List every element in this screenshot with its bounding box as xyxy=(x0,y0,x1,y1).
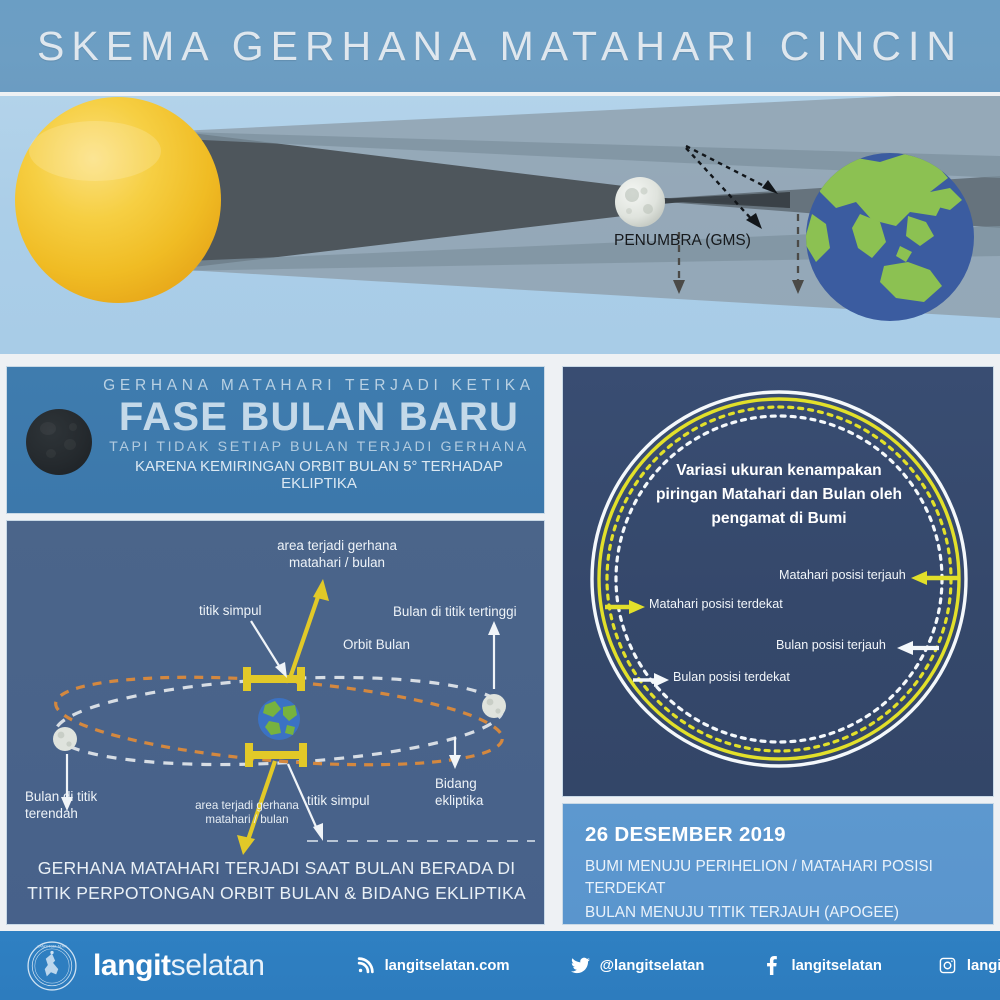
footer-link-twitter[interactable]: @langitselatan xyxy=(570,956,705,976)
arrow-sun-nearest xyxy=(605,600,645,614)
footer-bar: LANGITSELATAN langitselatan langitselata… xyxy=(0,931,1000,1000)
label-moon-highest: Bulan di titik tertinggi xyxy=(393,604,517,621)
footer-link-website[interactable]: langitselatan.com xyxy=(355,956,510,976)
circles-panel-title: Variasi ukuran kenampakan piringan Matah… xyxy=(618,459,940,531)
label-ecliptic-plane-line2: ekliptika xyxy=(435,793,521,810)
circles-title-line3: pengamat di Bumi xyxy=(618,507,940,531)
brand-word-bold: langit xyxy=(93,949,171,982)
infographic-page: SKEMA GERHANA MATAHARI CINCIN xyxy=(0,0,1000,1000)
label-eclipse-area-bottom-line2: matahari / bulan xyxy=(183,813,311,827)
label-sun-nearest: Matahari posisi terdekat xyxy=(649,597,783,611)
phase-line-4: KARENA KEMIRINGAN ORBIT BULAN 5° TERHADA… xyxy=(99,458,539,492)
earth-small-globe xyxy=(258,698,300,740)
facebook-icon xyxy=(761,956,783,976)
event-date-panel: 26 DESEMBER 2019 BUMI MENUJU PERIHELION … xyxy=(562,803,994,925)
new-moon-icon xyxy=(26,409,92,475)
label-moon-farthest: Bulan posisi terjauh xyxy=(776,638,886,652)
rss-icon xyxy=(355,956,377,976)
label-penumbra: PENUMBRA (GMS) xyxy=(614,232,751,250)
svg-text:LANGITSELATAN: LANGITSELATAN xyxy=(37,944,66,948)
moon-lowest-marker xyxy=(53,727,77,751)
moon-highest-arrow xyxy=(488,621,500,689)
label-sun-farthest: Matahari posisi terjauh xyxy=(779,568,906,582)
label-eclipse-area-top-line2: matahari / bulan xyxy=(262,555,412,572)
orbit-panel-caption: GERHANA MATAHARI TERJADI SAAT BULAN BERA… xyxy=(7,856,545,906)
eclipse-area-arrow-top xyxy=(289,579,329,681)
footer-link-facebook[interactable]: langitselatan xyxy=(761,956,881,976)
ecliptic-plane-arrow xyxy=(449,737,461,769)
brand-wordmark: langitselatan xyxy=(93,949,265,983)
event-detail-line1: BUMI MENUJU PERIHELION / MATAHARI POSISI… xyxy=(585,856,993,900)
phase-text-block: GERHANA MATAHARI TERJADI KETIKA FASE BUL… xyxy=(99,377,539,492)
label-moon-lowest-line2: terendah xyxy=(25,806,135,823)
circles-title-line2: piringan Matahari dan Bulan oleh xyxy=(618,483,940,507)
page-title: SKEMA GERHANA MATAHARI CINCIN xyxy=(37,23,963,70)
orbit-caption-line2: TITIK PERPOTONGAN ORBIT BULAN & BIDANG E… xyxy=(7,881,545,906)
label-ecliptic-plane-line1: Bidang xyxy=(435,776,521,793)
moon-highest-marker xyxy=(482,694,506,718)
phase-line-2: FASE BULAN BARU xyxy=(99,397,539,438)
instagram-icon xyxy=(937,956,959,976)
label-eclipse-area-top: area terjadi gerhana matahari / bulan xyxy=(262,538,412,572)
label-eclipse-area-bottom: area terjadi gerhana matahari / bulan xyxy=(183,799,311,828)
label-moon-nearest: Bulan posisi terdekat xyxy=(673,670,790,684)
twitter-icon xyxy=(570,956,592,976)
label-node-top: titik simpul xyxy=(199,603,262,620)
footer-facebook-text: langitselatan xyxy=(791,958,881,974)
footer-link-instagram[interactable]: langitselatanmedia xyxy=(937,956,1000,976)
new-moon-phase-panel: GERHANA MATAHARI TERJADI KETIKA FASE BUL… xyxy=(6,366,545,514)
circles-title-line1: Variasi ukuran kenampakan xyxy=(618,459,940,483)
langitselatan-seal-logo: LANGITSELATAN xyxy=(26,940,78,992)
eclipse-shadow-cones xyxy=(0,96,1000,354)
arrow-moon-farthest xyxy=(897,641,939,655)
label-node-bottom: titik simpul xyxy=(307,793,370,810)
eclipse-geometry-diagram: PENUMBRA (GMS) UMBRA (GMT) ANTUMBRA (GMC… xyxy=(0,96,1000,354)
label-moon-lowest: Bulan di titik terendah xyxy=(25,789,135,823)
node-marker-top xyxy=(243,667,305,691)
footer-twitter-text: @langitselatan xyxy=(600,958,705,974)
phase-line-1: GERHANA MATAHARI TERJADI KETIKA xyxy=(99,377,539,395)
moon-sphere xyxy=(615,177,665,227)
label-moon-lowest-line1: Bulan di titik xyxy=(25,789,135,806)
apparent-size-variation-panel: Variasi ukuran kenampakan piringan Matah… xyxy=(562,366,994,797)
label-moon-orbit: Orbit Bulan xyxy=(343,637,410,654)
label-eclipse-area-top-line1: area terjadi gerhana xyxy=(262,538,412,555)
orbit-caption-line1: GERHANA MATAHARI TERJADI SAAT BULAN BERA… xyxy=(7,856,545,881)
concentric-disk-circles xyxy=(563,367,994,797)
label-eclipse-area-bottom-line1: area terjadi gerhana xyxy=(183,799,311,813)
label-ecliptic-plane: Bidang ekliptika xyxy=(435,776,521,810)
footer-instagram-text: langitselatanmedia xyxy=(967,958,1000,974)
event-date: 26 DESEMBER 2019 xyxy=(585,823,993,847)
brand-block[interactable]: LANGITSELATAN langitselatan xyxy=(26,940,265,992)
phase-line-3: TAPI TIDAK SETIAP BULAN TERJADI GERHANA xyxy=(99,439,539,455)
arrow-moon-nearest xyxy=(633,673,669,687)
brand-word-light: selatan xyxy=(171,949,265,982)
node-label-arrow-top xyxy=(251,621,287,678)
moon-orbit-panel: area terjadi gerhana matahari / bulan ti… xyxy=(6,520,545,925)
footer-website-text: langitselatan.com xyxy=(385,958,510,974)
page-header: SKEMA GERHANA MATAHARI CINCIN xyxy=(0,0,1000,92)
event-detail-line2: BULAN MENUJU TITIK TERJAUH (APOGEE) xyxy=(585,902,993,924)
